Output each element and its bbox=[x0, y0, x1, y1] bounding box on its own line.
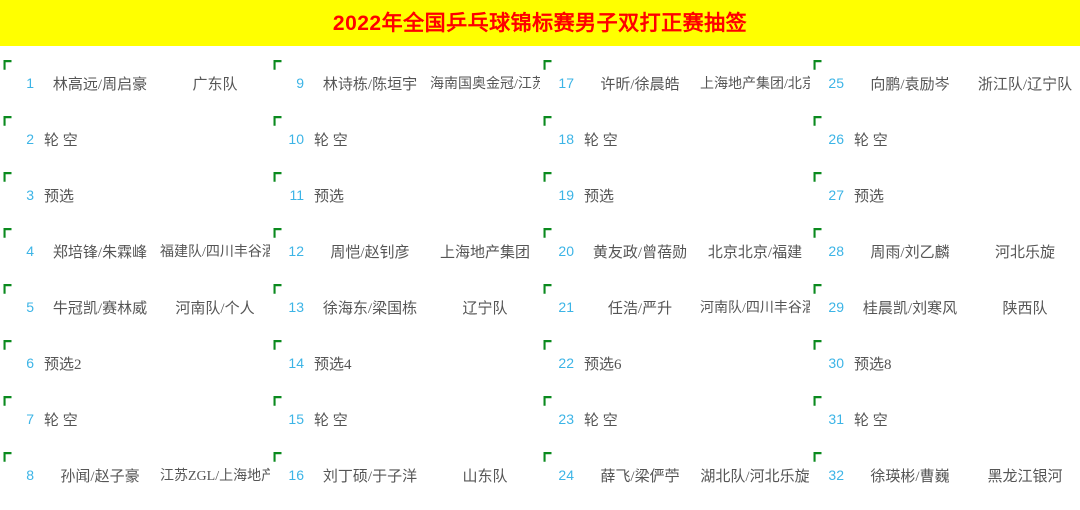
seed-number: 9 bbox=[270, 75, 310, 91]
entry-players: 任浩/严升 bbox=[580, 297, 700, 318]
seed-number: 21 bbox=[540, 299, 580, 315]
entry-team: 辽宁队 bbox=[430, 297, 540, 318]
entry-team: 广东队 bbox=[160, 73, 270, 94]
bracket-column-3: 17许昕/徐晨皓上海地产集团/北京队18轮 空19预选20黄友政/曾蓓勋北京北京… bbox=[540, 46, 810, 510]
seed-number: 3 bbox=[0, 187, 40, 203]
entry-players: 许昕/徐晨皓 bbox=[580, 73, 700, 94]
entry-players: 预选 bbox=[850, 185, 974, 206]
bracket-entry[interactable]: 19预选 bbox=[540, 164, 810, 220]
bracket-entry[interactable]: 11预选 bbox=[270, 164, 540, 220]
entry-team: 江苏ZGL/上海地产集团 bbox=[160, 465, 270, 485]
seed-number: 2 bbox=[0, 131, 40, 147]
seed-number: 25 bbox=[810, 75, 850, 91]
entry-players: 轮 空 bbox=[310, 129, 434, 150]
entry-players: 轮 空 bbox=[850, 129, 974, 150]
entry-team: 河北乐旋 bbox=[970, 241, 1080, 262]
bracket-entry[interactable]: 23轮 空 bbox=[540, 388, 810, 444]
seed-number: 26 bbox=[810, 131, 850, 147]
entry-team: 河南队/个人 bbox=[160, 297, 270, 318]
page-title: 2022年全国乒乓球锦标赛男子双打正赛抽签 bbox=[333, 13, 747, 34]
bracket-entry[interactable]: 31轮 空 bbox=[810, 388, 1080, 444]
seed-number: 13 bbox=[270, 299, 310, 315]
entry-row: 6预选2 bbox=[0, 350, 270, 376]
seed-number: 28 bbox=[810, 243, 850, 259]
seed-number: 18 bbox=[540, 131, 580, 147]
seed-number: 14 bbox=[270, 355, 310, 371]
seed-number: 19 bbox=[540, 187, 580, 203]
bracket-entry[interactable]: 15轮 空 bbox=[270, 388, 540, 444]
seed-number: 7 bbox=[0, 411, 40, 427]
entry-players: 黄友政/曾蓓勋 bbox=[580, 241, 700, 262]
entry-row: 12周恺/赵钊彦上海地产集团 bbox=[270, 238, 540, 264]
seed-number: 17 bbox=[540, 75, 580, 91]
entry-row: 29桂晨凯/刘寒风陕西队 bbox=[810, 294, 1080, 320]
entry-row: 15轮 空 bbox=[270, 406, 540, 432]
bracket-entry[interactable]: 18轮 空 bbox=[540, 108, 810, 164]
entry-team: 北京北京/福建 bbox=[700, 241, 810, 262]
entry-row: 5牛冠凯/赛林威河南队/个人 bbox=[0, 294, 270, 320]
entry-team: 上海地产集团/北京队 bbox=[700, 73, 810, 93]
bracket-entry[interactable]: 32徐瑛彬/曹巍黑龙江银河 bbox=[810, 444, 1080, 500]
entry-row: 22预选6 bbox=[540, 350, 810, 376]
bracket-entry[interactable]: 9林诗栋/陈垣宇海南国奥金冠/江苏队 bbox=[270, 52, 540, 108]
entry-row: 24薛飞/梁俨苧湖北队/河北乐旋 bbox=[540, 462, 810, 488]
entry-players: 轮 空 bbox=[40, 409, 164, 430]
bracket-entry[interactable]: 5牛冠凯/赛林威河南队/个人 bbox=[0, 276, 270, 332]
entry-row: 23轮 空 bbox=[540, 406, 810, 432]
entry-players: 预选6 bbox=[580, 353, 704, 374]
entry-players: 轮 空 bbox=[40, 129, 164, 150]
entry-row: 26轮 空 bbox=[810, 126, 1080, 152]
entry-players: 轮 空 bbox=[580, 129, 704, 150]
entry-row: 10轮 空 bbox=[270, 126, 540, 152]
bracket-entry[interactable]: 22预选6 bbox=[540, 332, 810, 388]
title-banner: 2022年全国乒乓球锦标赛男子双打正赛抽签 bbox=[0, 0, 1080, 46]
entry-team: 上海地产集团 bbox=[430, 241, 540, 262]
entry-row: 32徐瑛彬/曹巍黑龙江银河 bbox=[810, 462, 1080, 488]
entry-row: 2轮 空 bbox=[0, 126, 270, 152]
seed-number: 27 bbox=[810, 187, 850, 203]
entry-team: 海南国奥金冠/江苏队 bbox=[430, 73, 540, 93]
entry-row: 31轮 空 bbox=[810, 406, 1080, 432]
entry-players: 桂晨凯/刘寒风 bbox=[850, 297, 970, 318]
entry-row: 16刘丁硕/于子洋山东队 bbox=[270, 462, 540, 488]
entry-row: 27预选 bbox=[810, 182, 1080, 208]
seed-number: 6 bbox=[0, 355, 40, 371]
seed-number: 31 bbox=[810, 411, 850, 427]
entry-players: 薛飞/梁俨苧 bbox=[580, 465, 700, 486]
bracket-entry[interactable]: 30预选8 bbox=[810, 332, 1080, 388]
entry-players: 牛冠凯/赛林威 bbox=[40, 297, 160, 318]
bracket-entry[interactable]: 1林高远/周启豪广东队 bbox=[0, 52, 270, 108]
bracket-entry[interactable]: 4郑培锋/朱霖峰福建队/四川丰谷酒业队 bbox=[0, 220, 270, 276]
seed-number: 1 bbox=[0, 75, 40, 91]
seed-number: 5 bbox=[0, 299, 40, 315]
entry-players: 预选2 bbox=[40, 353, 164, 374]
entry-players: 刘丁硕/于子洋 bbox=[310, 465, 430, 486]
bracket-entry[interactable]: 27预选 bbox=[810, 164, 1080, 220]
entry-row: 25向鹏/袁励岑浙江队/辽宁队 bbox=[810, 70, 1080, 96]
entry-players: 向鹏/袁励岑 bbox=[850, 73, 970, 94]
bracket-entry[interactable]: 7轮 空 bbox=[0, 388, 270, 444]
bracket-entry[interactable]: 10轮 空 bbox=[270, 108, 540, 164]
seed-number: 30 bbox=[810, 355, 850, 371]
entry-row: 14预选4 bbox=[270, 350, 540, 376]
bracket-entry[interactable]: 12周恺/赵钊彦上海地产集团 bbox=[270, 220, 540, 276]
seed-number: 4 bbox=[0, 243, 40, 259]
seed-number: 11 bbox=[270, 187, 310, 203]
draw-sheet-page: 2022年全国乒乓球锦标赛男子双打正赛抽签 1林高远/周启豪广东队2轮 空3预选… bbox=[0, 0, 1080, 510]
entry-row: 19预选 bbox=[540, 182, 810, 208]
entry-players: 孙闻/赵子豪 bbox=[40, 465, 160, 486]
entry-players: 林高远/周启豪 bbox=[40, 73, 160, 94]
entry-players: 周雨/刘乙麟 bbox=[850, 241, 970, 262]
bracket-entry[interactable]: 21任浩/严升河南队/四川丰谷酒业队 bbox=[540, 276, 810, 332]
entry-players: 徐海东/梁国栋 bbox=[310, 297, 430, 318]
entry-row: 20黄友政/曾蓓勋北京北京/福建 bbox=[540, 238, 810, 264]
seed-number: 12 bbox=[270, 243, 310, 259]
entry-players: 徐瑛彬/曹巍 bbox=[850, 465, 970, 486]
bracket-entry[interactable]: 8孙闻/赵子豪江苏ZGL/上海地产集团 bbox=[0, 444, 270, 500]
seed-number: 22 bbox=[540, 355, 580, 371]
entry-players: 预选 bbox=[580, 185, 704, 206]
seed-number: 8 bbox=[0, 467, 40, 483]
entry-row: 4郑培锋/朱霖峰福建队/四川丰谷酒业队 bbox=[0, 238, 270, 264]
seed-number: 24 bbox=[540, 467, 580, 483]
entry-row: 1林高远/周启豪广东队 bbox=[0, 70, 270, 96]
bracket-entry[interactable]: 24薛飞/梁俨苧湖北队/河北乐旋 bbox=[540, 444, 810, 500]
entry-players: 预选4 bbox=[310, 353, 434, 374]
bracket-entry[interactable]: 16刘丁硕/于子洋山东队 bbox=[270, 444, 540, 500]
entry-row: 28周雨/刘乙麟河北乐旋 bbox=[810, 238, 1080, 264]
seed-number: 15 bbox=[270, 411, 310, 427]
entry-row: 13徐海东/梁国栋辽宁队 bbox=[270, 294, 540, 320]
seed-number: 20 bbox=[540, 243, 580, 259]
seed-number: 29 bbox=[810, 299, 850, 315]
seed-number: 10 bbox=[270, 131, 310, 147]
bracket-entry[interactable]: 17许昕/徐晨皓上海地产集团/北京队 bbox=[540, 52, 810, 108]
entry-team: 湖北队/河北乐旋 bbox=[700, 465, 810, 486]
entry-row: 21任浩/严升河南队/四川丰谷酒业队 bbox=[540, 294, 810, 320]
entry-players: 预选 bbox=[310, 185, 434, 206]
bracket-entry[interactable]: 14预选4 bbox=[270, 332, 540, 388]
entry-row: 18轮 空 bbox=[540, 126, 810, 152]
entry-row: 11预选 bbox=[270, 182, 540, 208]
bracket-column-2: 9林诗栋/陈垣宇海南国奥金冠/江苏队10轮 空11预选12周恺/赵钊彦上海地产集… bbox=[270, 46, 540, 510]
entry-players: 轮 空 bbox=[850, 409, 974, 430]
bracket-column-4: 25向鹏/袁励岑浙江队/辽宁队26轮 空27预选28周雨/刘乙麟河北乐旋29桂晨… bbox=[810, 46, 1080, 510]
seed-number: 23 bbox=[540, 411, 580, 427]
entry-team: 黑龙江银河 bbox=[970, 465, 1080, 486]
bracket-entry[interactable]: 20黄友政/曾蓓勋北京北京/福建 bbox=[540, 220, 810, 276]
bracket-entry[interactable]: 13徐海东/梁国栋辽宁队 bbox=[270, 276, 540, 332]
bracket-entry[interactable]: 25向鹏/袁励岑浙江队/辽宁队 bbox=[810, 52, 1080, 108]
bracket-entry[interactable]: 26轮 空 bbox=[810, 108, 1080, 164]
entry-players: 周恺/赵钊彦 bbox=[310, 241, 430, 262]
entry-row: 17许昕/徐晨皓上海地产集团/北京队 bbox=[540, 70, 810, 96]
entry-players: 轮 空 bbox=[310, 409, 434, 430]
entry-row: 30预选8 bbox=[810, 350, 1080, 376]
bracket-entry[interactable]: 2轮 空 bbox=[0, 108, 270, 164]
entry-row: 7轮 空 bbox=[0, 406, 270, 432]
entry-players: 轮 空 bbox=[580, 409, 704, 430]
entry-team: 河南队/四川丰谷酒业队 bbox=[700, 297, 810, 317]
entry-team: 陕西队 bbox=[970, 297, 1080, 318]
bracket-entry[interactable]: 28周雨/刘乙麟河北乐旋 bbox=[810, 220, 1080, 276]
entry-players: 预选8 bbox=[850, 353, 974, 374]
bracket-entry[interactable]: 3预选 bbox=[0, 164, 270, 220]
entry-row: 9林诗栋/陈垣宇海南国奥金冠/江苏队 bbox=[270, 70, 540, 96]
entry-team: 福建队/四川丰谷酒业队 bbox=[160, 241, 270, 261]
entry-team: 山东队 bbox=[430, 465, 540, 486]
seed-number: 32 bbox=[810, 467, 850, 483]
entry-players: 林诗栋/陈垣宇 bbox=[310, 73, 430, 94]
entry-row: 3预选 bbox=[0, 182, 270, 208]
bracket-entry[interactable]: 6预选2 bbox=[0, 332, 270, 388]
seed-number: 16 bbox=[270, 467, 310, 483]
bracket-entry[interactable]: 29桂晨凯/刘寒风陕西队 bbox=[810, 276, 1080, 332]
entry-row: 8孙闻/赵子豪江苏ZGL/上海地产集团 bbox=[0, 462, 270, 488]
entry-players: 郑培锋/朱霖峰 bbox=[40, 241, 160, 262]
bracket-grid: 1林高远/周启豪广东队2轮 空3预选4郑培锋/朱霖峰福建队/四川丰谷酒业队5牛冠… bbox=[0, 46, 1080, 510]
entry-players: 预选 bbox=[40, 185, 164, 206]
bracket-column-1: 1林高远/周启豪广东队2轮 空3预选4郑培锋/朱霖峰福建队/四川丰谷酒业队5牛冠… bbox=[0, 46, 270, 510]
entry-team: 浙江队/辽宁队 bbox=[970, 73, 1080, 94]
